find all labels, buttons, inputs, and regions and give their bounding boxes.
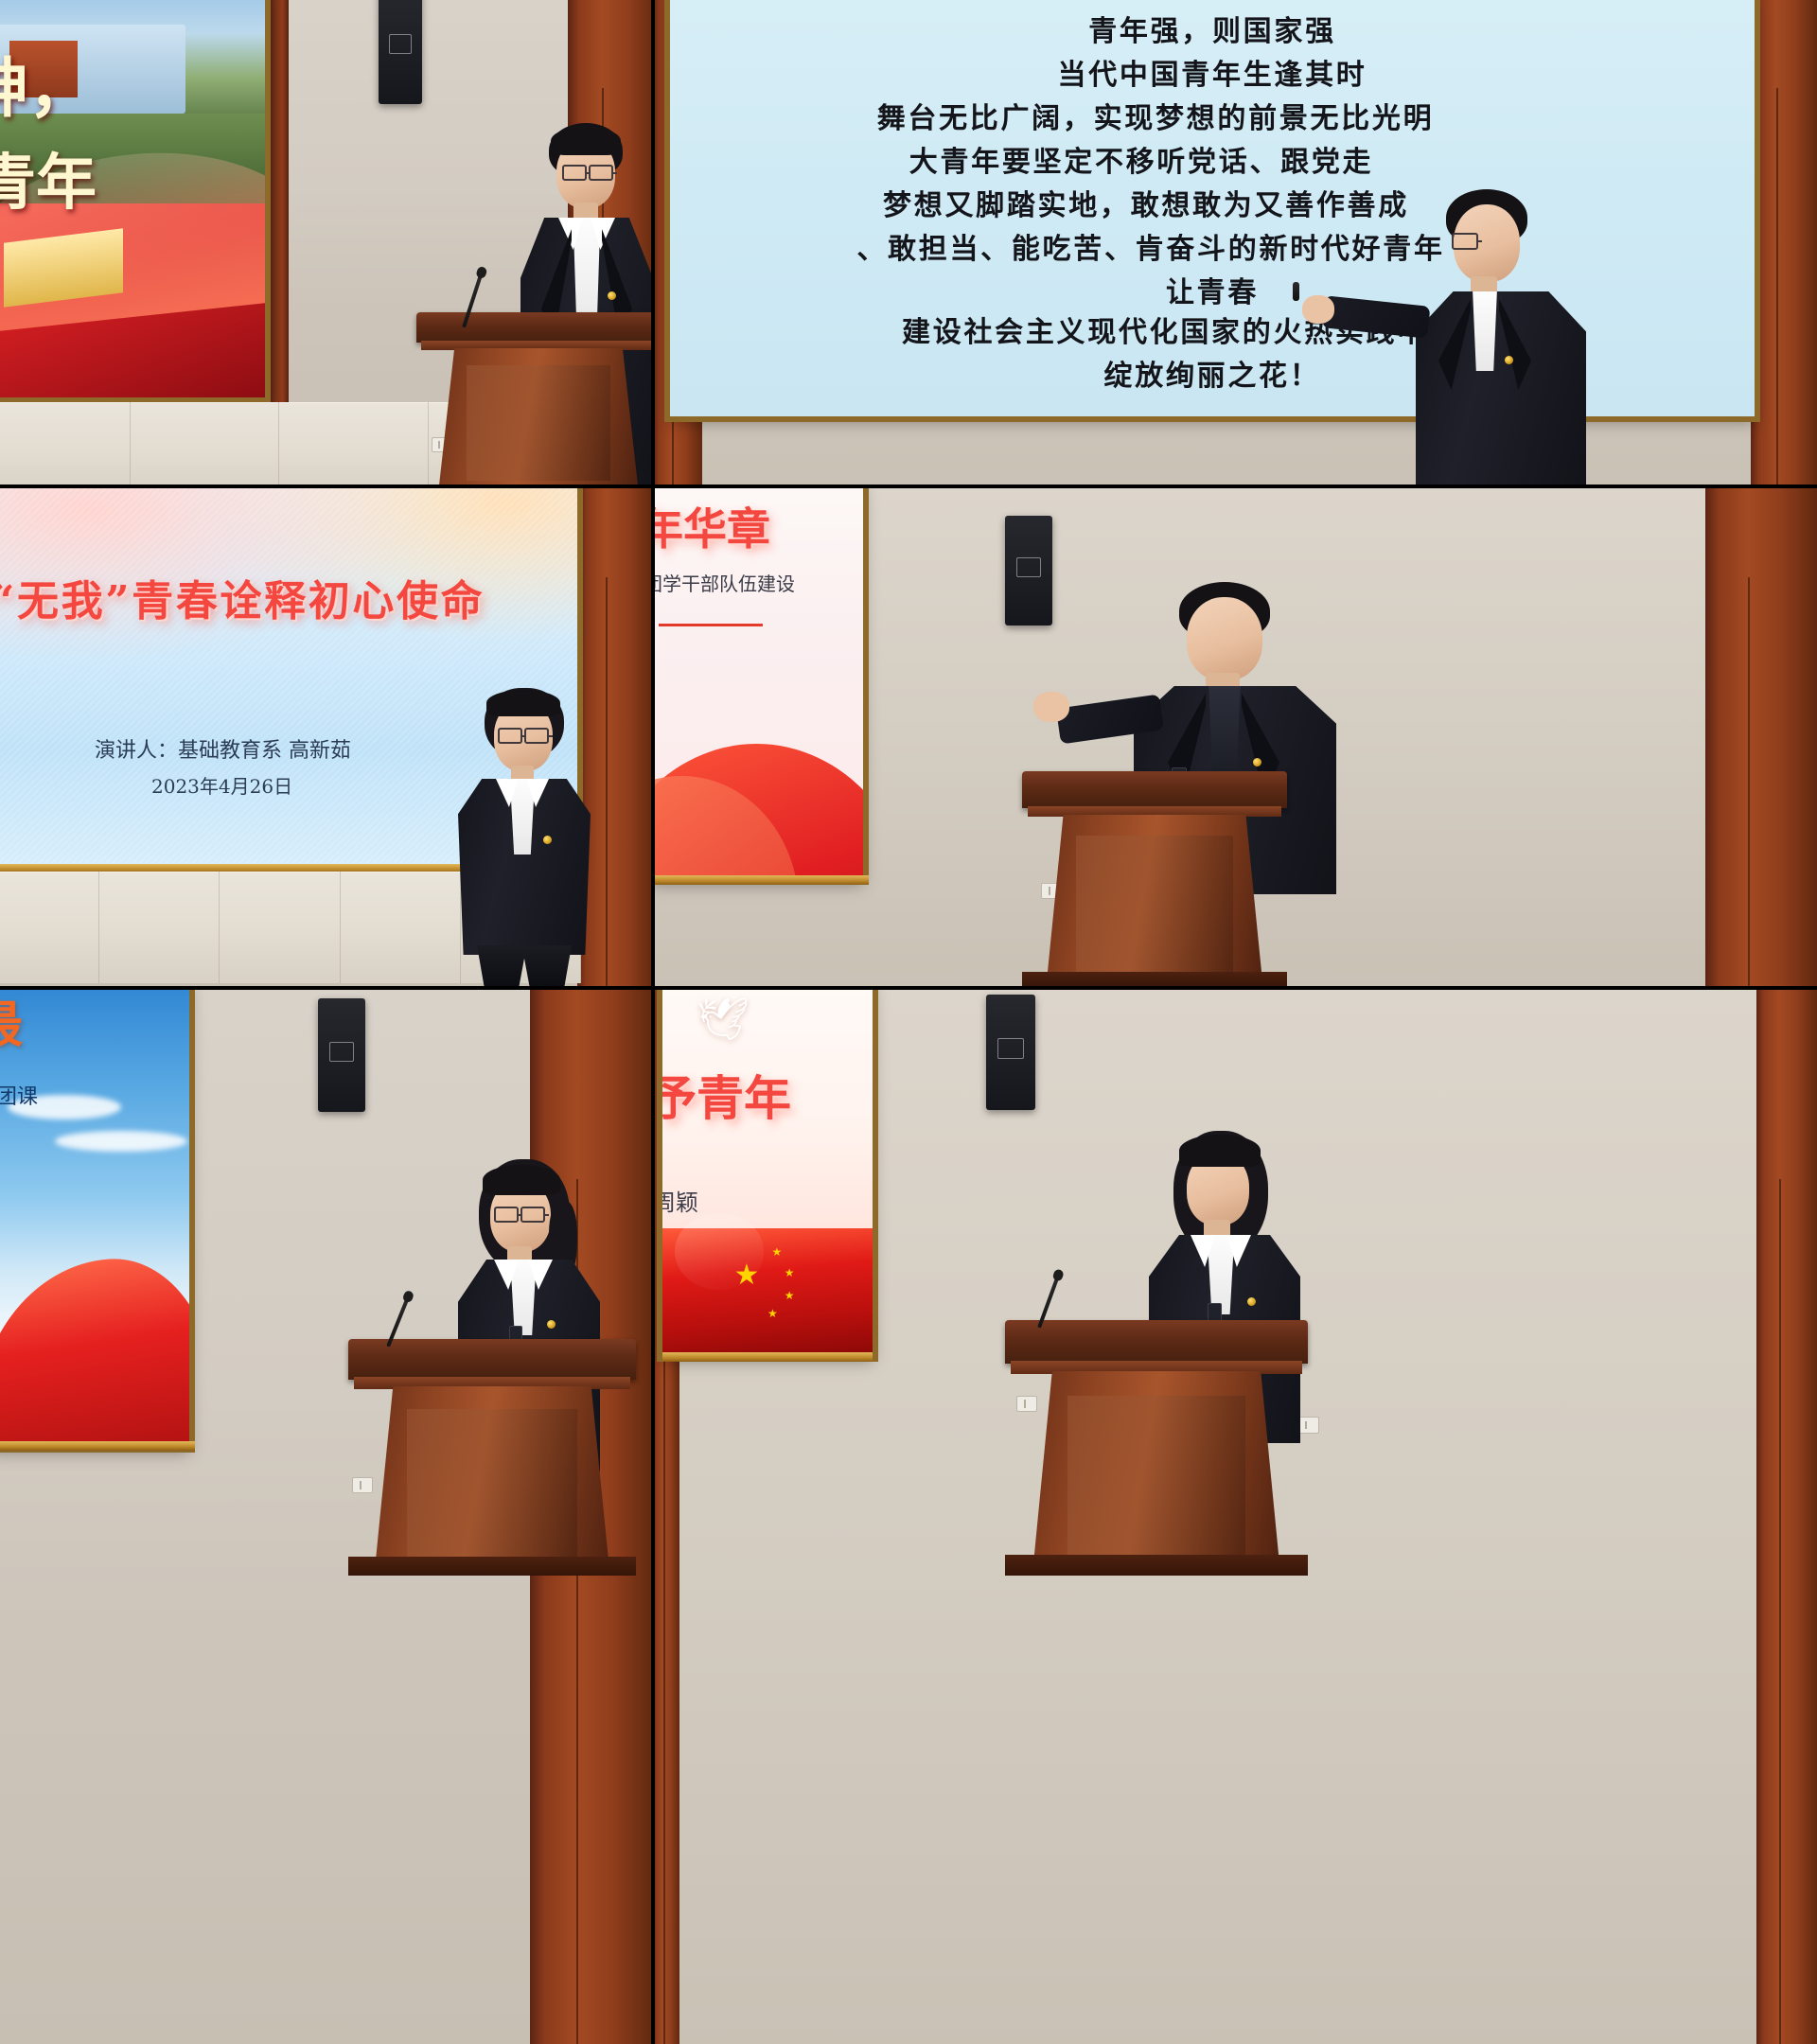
wall-speaker-icon [986,995,1035,1110]
suit-jacket [1416,291,1586,487]
wall-pad [131,402,280,487]
projection-screen: 青年强，则国家强 当代中国青年生逢其时 舞台无比广阔，实现梦想的前景无比光明 大… [670,0,1755,416]
flag-wave-front [0,1253,189,1447]
podium-top [348,1339,636,1380]
podium-base [1005,1555,1308,1576]
glasses-icon [498,728,522,744]
slide-subtitle-fragment: 团学干部队伍建设 [653,569,795,596]
slide-white-arc: 年华章 团学干部队伍建设 [653,487,863,879]
projection-screen: 年华章 团学干部队伍建设 [653,487,863,879]
panel-mid-left: “无我”青春诠释初心使命 演讲人：基础教育系 高新茹 2023年4月26日 [0,487,653,989]
slide-red-banner: 神， 青年 [0,0,265,397]
wall-pad [0,872,99,983]
wood-column-right [1751,0,1817,487]
party-emblem-badge-icon [1247,1297,1256,1306]
podium-top [416,312,653,343]
laser-pointer-icon[interactable] [1293,282,1299,301]
podium [348,1339,636,1576]
slide-line-1: 神， [0,36,93,130]
podium-body [1032,1371,1280,1576]
hair-fringe [483,1165,560,1195]
hand [1302,295,1334,324]
podium [1022,771,1287,989]
glasses-icon [520,1207,545,1223]
party-emblem-badge-icon [1253,758,1261,766]
slide-line-4: 大青年要坚定不移听党话、跟党走 [670,138,1755,180]
slide-dove-flag: 🕊 予青年 周颖 ★ ★ ★ ★ ★ [662,989,873,1356]
wall-speaker-icon [379,0,422,104]
hair-fringe [1179,1135,1261,1167]
slide-line-5: 梦想又脚踏实地，敢想敢为又善作善成 [670,182,1755,223]
slide-line-2: 青年 [0,134,97,221]
flag-star-small-icon: ★ [785,1267,795,1278]
gold-trim-rail [0,1441,195,1451]
projection-screen: 🕊 予青年 周颖 ★ ★ ★ ★ ★ [662,989,873,1356]
dove-icon: 🕊 [697,995,750,1044]
panel-top-right: 青年强，则国家强 当代中国青年生逢其时 舞台无比广阔，实现梦想的前景无比光明 大… [653,0,1817,487]
flag-star-small-icon: ★ [767,1308,778,1319]
wood-column-right [1756,989,1817,2044]
panel-bottom-right: 🕊 予青年 周颖 ★ ★ ★ ★ ★ [653,989,1817,2044]
slide-presenter: 演讲人：基础教育系 高新茹 [95,733,351,764]
collage-seam-horizontal [0,485,1817,488]
flag-star-small-icon: ★ [771,1246,782,1258]
podium-top [1022,771,1287,808]
hair-fringe [486,690,560,716]
glasses-icon [524,728,549,744]
wood-column [1705,487,1817,989]
collage-seam-vertical [651,0,655,989]
hand [1033,692,1069,722]
speaker-person [452,688,642,989]
national-flag-band: ★ ★ ★ ★ ★ [662,1228,873,1356]
gold-trim-rail [653,875,869,885]
wall-speaker-icon [1005,516,1052,626]
glasses-icon [494,1207,519,1223]
collage-seam-horizontal [0,986,1817,990]
wall-pad [279,402,429,487]
slide-title-fragment: 最 [0,989,23,1056]
podium-body [1046,815,1263,989]
speaker-person [1372,189,1590,487]
panel-bottom-left: 最 题团课 [0,989,653,2044]
slide-line-2: 当代中国青年生逢其时 [670,51,1755,93]
slide-divider [659,624,763,626]
collage-seam-vertical [651,989,655,2044]
slide-line-1: 青年强，则国家强 [670,8,1755,49]
flag-star-large-icon: ★ [733,1261,759,1290]
slide-title-fragment: 予青年 [662,1061,791,1129]
flag-star-small-icon: ★ [785,1290,795,1301]
photo-collage: 神， 青年 [0,0,1817,2044]
slide-sky-flag: 最 题团课 [0,989,189,1447]
slide-line-9: 绽放绚丽之花！ [670,352,1755,394]
party-emblem-badge-icon [608,291,616,300]
projection-screen: 神， 青年 [0,0,265,397]
panel-top-left: 神， 青年 [0,0,653,487]
wall-speaker-icon [318,998,365,1112]
slide-title: “无我”青春诠释初心使命 [0,567,485,627]
wood-column-edge [268,0,289,407]
cloud-icon [55,1131,187,1152]
wall-pad [220,872,340,983]
party-emblem-badge-icon [1505,356,1513,364]
slide-line-7: 让青春 [670,269,1755,310]
party-emblem-badge-icon [547,1320,556,1329]
wall-pad [99,872,220,983]
slide-line-3: 舞台无比广阔，实现梦想的前景无比光明 [670,95,1755,136]
slide-date: 2023年4月26日 [151,771,292,799]
glasses-icon [589,165,613,181]
podium [416,312,653,487]
projection-screen: 最 题团课 [0,989,189,1447]
panel-mid-right: 年华章 团学干部队伍建设 [653,487,1817,989]
glasses-icon [562,165,587,181]
slide-presenter-fragment: 周颖 [662,1184,698,1217]
trousers [477,945,572,989]
podium [1005,1320,1308,1576]
wall-pad [0,402,131,487]
slide-line-6: 、敢担当、能吃苦、肯奋斗的新时代好青年 [670,225,1755,267]
head [1187,597,1262,680]
slide-subtitle-fragment: 题团课 [0,1080,38,1110]
podium-body [438,348,639,487]
slide-calligraphy: 青年强，则国家强 当代中国青年生逢其时 舞台无比广阔，实现梦想的前景无比光明 大… [670,0,1755,416]
podium-body [374,1386,609,1576]
party-emblem-badge-icon [543,836,552,844]
podium-base [348,1557,636,1576]
wall-pad [341,872,461,983]
podium-top [1005,1320,1308,1364]
slide-title-fragment: 年华章 [653,495,770,557]
hair-fringe [551,127,621,155]
gold-trim-rail [662,1352,873,1362]
glasses-icon [1452,233,1478,250]
slide-line-8: 建设社会主义现代化国家的火热实践中 [670,308,1755,350]
